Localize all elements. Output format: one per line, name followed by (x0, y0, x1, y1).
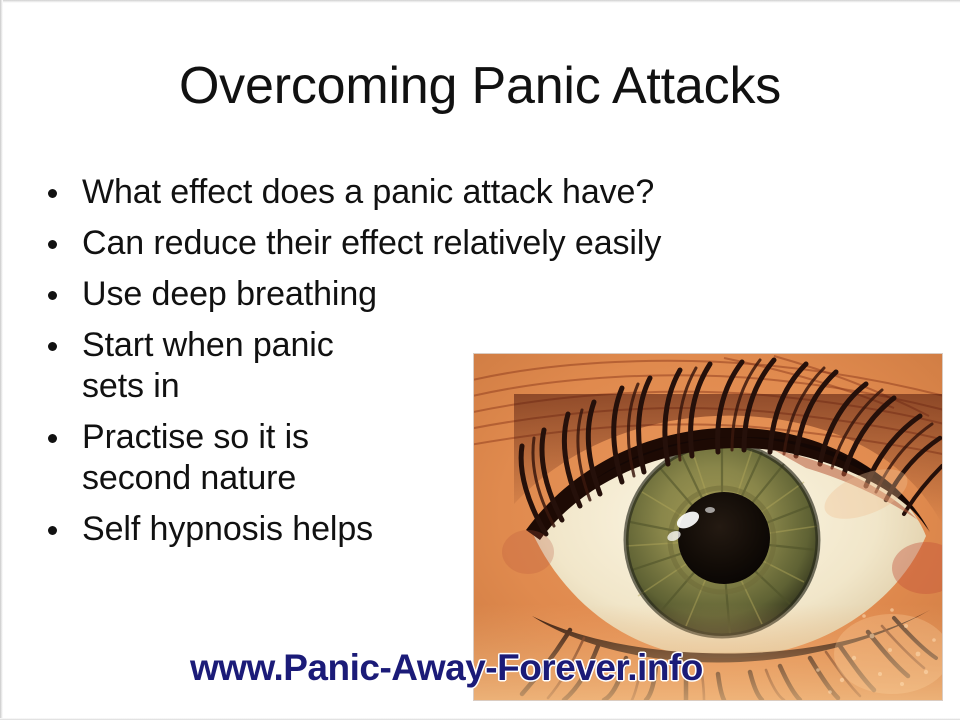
bullet-text-6: Self hypnosis helps (82, 509, 470, 550)
bullet-item-5: Practise so it is second nature (40, 417, 470, 499)
bullet-text-4: Start when panic sets in (82, 325, 470, 407)
bullet-item-4: Start when panic sets in (40, 325, 470, 407)
bullet-item-1: What effect does a panic attack have? (40, 172, 862, 213)
pupil (678, 492, 770, 584)
bullet-text-2: Can reduce their effect relatively easil… (82, 223, 862, 264)
bullet-dot-icon (48, 526, 57, 535)
bullet-list: What effect does a panic attack have? Ca… (40, 172, 470, 560)
bullet-dot-icon (48, 240, 57, 249)
bullet-item-3: Use deep breathing (40, 274, 862, 315)
bullet-dot-icon (48, 291, 57, 300)
bullet-item-2: Can reduce their effect relatively easil… (40, 223, 862, 264)
bullet-item-6: Self hypnosis helps (40, 509, 470, 550)
website-url-watermark: www.Panic-Away-Forever.info (190, 648, 703, 688)
bullet-dot-icon (48, 434, 57, 443)
bullet-text-1: What effect does a panic attack have? (82, 172, 862, 213)
slide-top-edge (0, 0, 960, 3)
bullet-dot-icon (48, 189, 57, 198)
bullet-text-5: Practise so it is second nature (82, 417, 470, 499)
bullet-dot-icon (48, 342, 57, 351)
slide-title: Overcoming Panic Attacks (0, 56, 960, 116)
presentation-slide: Overcoming Panic Attacks What effect doe… (0, 0, 960, 720)
bullet-text-3: Use deep breathing (82, 274, 862, 315)
